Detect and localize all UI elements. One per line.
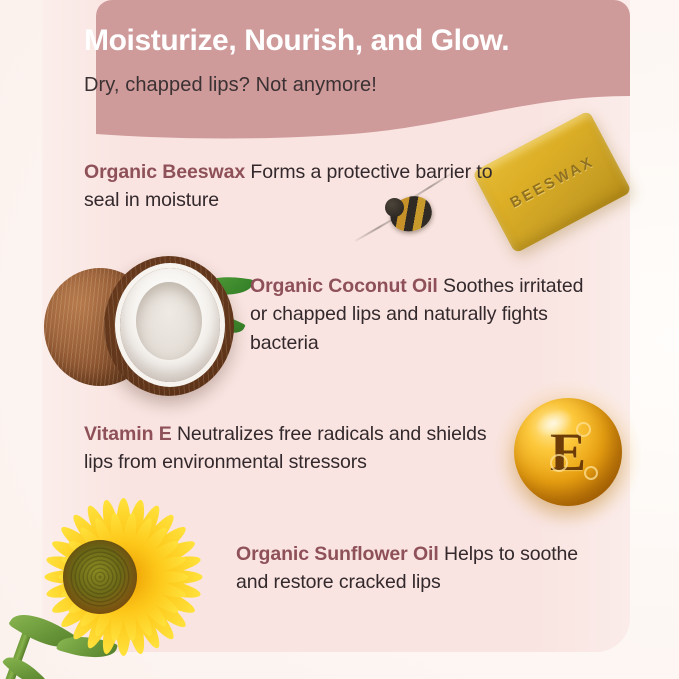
ingredient-vitamin-e-text: Vitamin E Neutralizes free radicals and …: [84, 420, 514, 477]
capsule-bubble: [576, 422, 591, 437]
ingredient-sunflower-name: Organic Sunflower Oil: [236, 543, 439, 565]
ingredient-vitamin-e-name: Vitamin E: [84, 423, 172, 445]
capsule-sphere: E: [514, 398, 622, 506]
page-title: Moisturize, Nourish, and Glow.: [84, 24, 604, 59]
ingredient-coconut-text: Organic Coconut Oil Soothes irritated or…: [250, 272, 590, 357]
ingredient-beeswax-name: Organic Beeswax: [84, 161, 245, 183]
sunflower-center: [63, 540, 137, 614]
sunflower-image: [18, 496, 228, 679]
coconut-image: [40, 252, 246, 402]
vitamin-e-capsule-image: E: [508, 394, 628, 514]
coconut-cavity: [136, 282, 202, 360]
product-benefits-infographic: Moisturize, Nourish, and Glow. Dry, chap…: [0, 0, 679, 679]
page-subtitle: Dry, chapped lips? Not anymore!: [84, 74, 604, 97]
ingredient-beeswax-text: Organic Beeswax Forms a protective barri…: [84, 158, 504, 215]
capsule-bubble: [584, 466, 598, 480]
ingredient-sunflower-text: Organic Sunflower Oil Helps to soothe an…: [236, 540, 586, 597]
ingredient-coconut-name: Organic Coconut Oil: [250, 275, 438, 297]
capsule-bubble: [550, 454, 568, 472]
